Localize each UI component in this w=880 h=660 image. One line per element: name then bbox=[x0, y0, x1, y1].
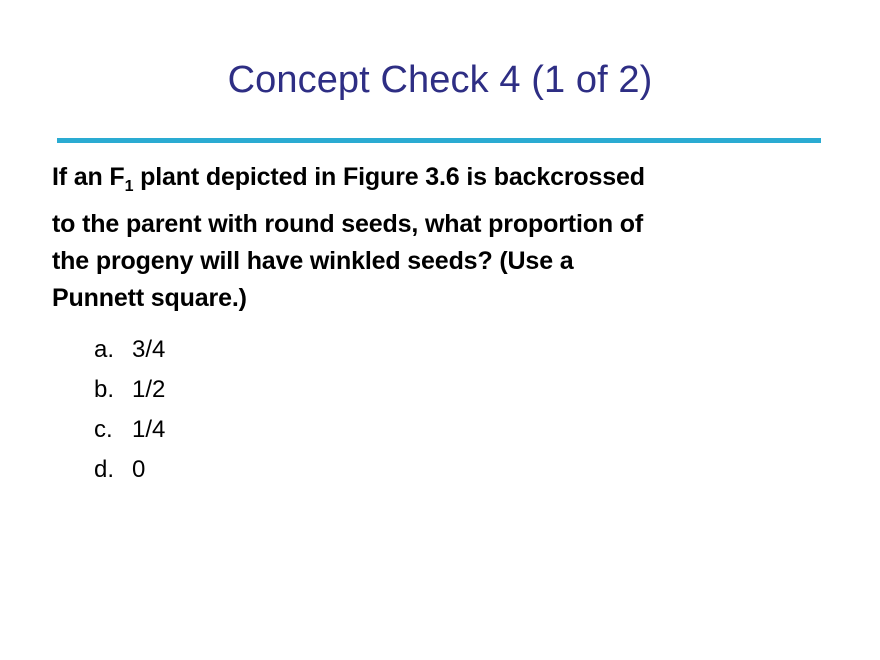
question-line-2: to the parent with round seeds, what pro… bbox=[52, 206, 842, 243]
answer-option-b[interactable]: b. 1/2 bbox=[94, 376, 165, 416]
answer-option-d-marker: d. bbox=[94, 456, 132, 484]
question-line-1-part-a: If an F bbox=[52, 163, 125, 191]
answer-option-b-marker: b. bbox=[94, 376, 132, 404]
question-line-1: If an F1 plant depicted in Figure 3.6 is… bbox=[52, 163, 842, 192]
answer-options-list: a. 3/4 b. 1/2 c. 1/4 d. 0 bbox=[94, 336, 165, 496]
question-line-3: the progeny will have winkled seeds? (Us… bbox=[52, 243, 842, 280]
answer-option-c[interactable]: c. 1/4 bbox=[94, 416, 165, 456]
question-line-4: Punnett square.) bbox=[52, 280, 842, 317]
question-text-block: If an F1 plant depicted in Figure 3.6 is… bbox=[52, 163, 842, 317]
question-line-1-part-b: plant depicted in Figure 3.6 is backcros… bbox=[133, 163, 645, 191]
answer-option-c-label: 1/4 bbox=[132, 416, 165, 444]
page-title: Concept Check 4 (1 of 2) bbox=[0, 57, 880, 103]
answer-option-a-marker: a. bbox=[94, 336, 132, 364]
slide-canvas: Concept Check 4 (1 of 2) If an F1 plant … bbox=[0, 0, 880, 660]
answer-option-b-label: 1/2 bbox=[132, 376, 165, 404]
answer-option-a[interactable]: a. 3/4 bbox=[94, 336, 165, 376]
answer-option-d-label: 0 bbox=[132, 456, 145, 484]
answer-option-a-label: 3/4 bbox=[132, 336, 165, 364]
title-divider-rule bbox=[57, 138, 821, 143]
f1-subscript: 1 bbox=[125, 178, 134, 195]
answer-option-d[interactable]: d. 0 bbox=[94, 456, 165, 496]
answer-option-c-marker: c. bbox=[94, 416, 132, 444]
